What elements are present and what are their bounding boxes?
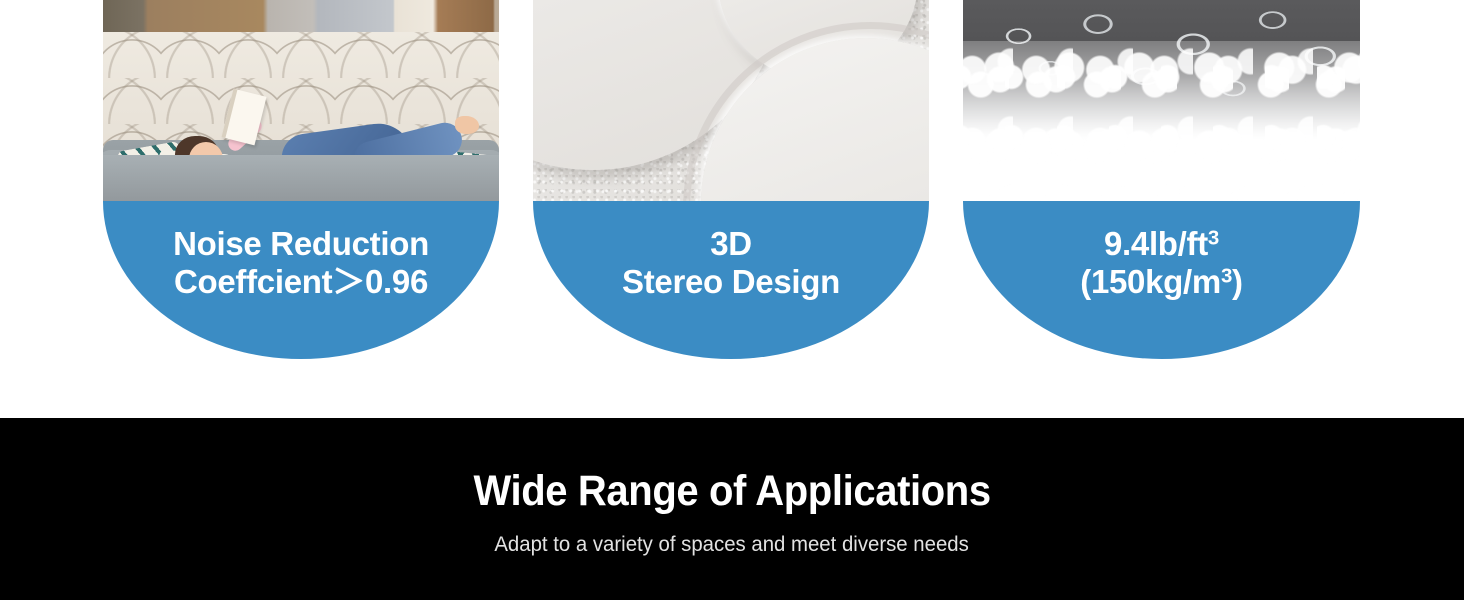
polyester-fiber-photo <box>963 0 1360 201</box>
applications-title: Wide Range of Applications <box>473 470 990 513</box>
density-metric-close: ) <box>1232 263 1243 300</box>
feature-caption-text: 3D Stereo Design <box>622 225 840 302</box>
acoustic-felt-photo <box>533 0 929 201</box>
product-feature-banner: Noise Reduction Coeffcient＞0.96 3D Stere… <box>0 0 1464 600</box>
feature-cards-section: Noise Reduction Coeffcient＞0.96 3D Stere… <box>0 0 1464 418</box>
cropped-top-photo-strip <box>103 0 499 32</box>
sofa-reading-photo <box>103 0 499 201</box>
feature-caption-text: 9.4lb/ft3(150kg/m3) <box>1080 225 1242 302</box>
person-foot <box>455 116 479 134</box>
fiber-mass <box>963 41 1360 201</box>
feature-caption-panel-density: 9.4lb/ft3(150kg/m3) <box>963 201 1360 359</box>
feature-caption-panel-stereo-design: 3D Stereo Design <box>533 201 929 359</box>
density-metric-open: (150kg/m <box>1080 263 1221 300</box>
feature-card-noise-reduction: Noise Reduction Coeffcient＞0.96 <box>103 0 499 418</box>
feature-caption-panel-noise-reduction: Noise Reduction Coeffcient＞0.96 <box>103 201 499 359</box>
cropped-photo-content <box>103 0 499 32</box>
density-metric-exponent: 3 <box>1221 265 1232 288</box>
feature-card-stereo-design: 3D Stereo Design <box>533 0 929 418</box>
density-imperial-exponent: 3 <box>1208 226 1219 249</box>
feature-card-photo-noise-reduction <box>103 0 499 201</box>
sofa-seat <box>103 155 499 201</box>
feature-card-photo-density <box>963 0 1360 201</box>
feature-card-density: 9.4lb/ft3(150kg/m3) <box>963 0 1360 418</box>
applications-subtitle: Adapt to a variety of spaces and meet di… <box>495 534 969 555</box>
applications-section: Wide Range of Applications Adapt to a va… <box>0 418 1464 600</box>
feature-caption-text: Noise Reduction Coeffcient＞0.96 <box>173 225 429 302</box>
density-imperial-value: 9.4lb/ft <box>1104 225 1208 262</box>
feature-card-photo-stereo-design <box>533 0 929 201</box>
